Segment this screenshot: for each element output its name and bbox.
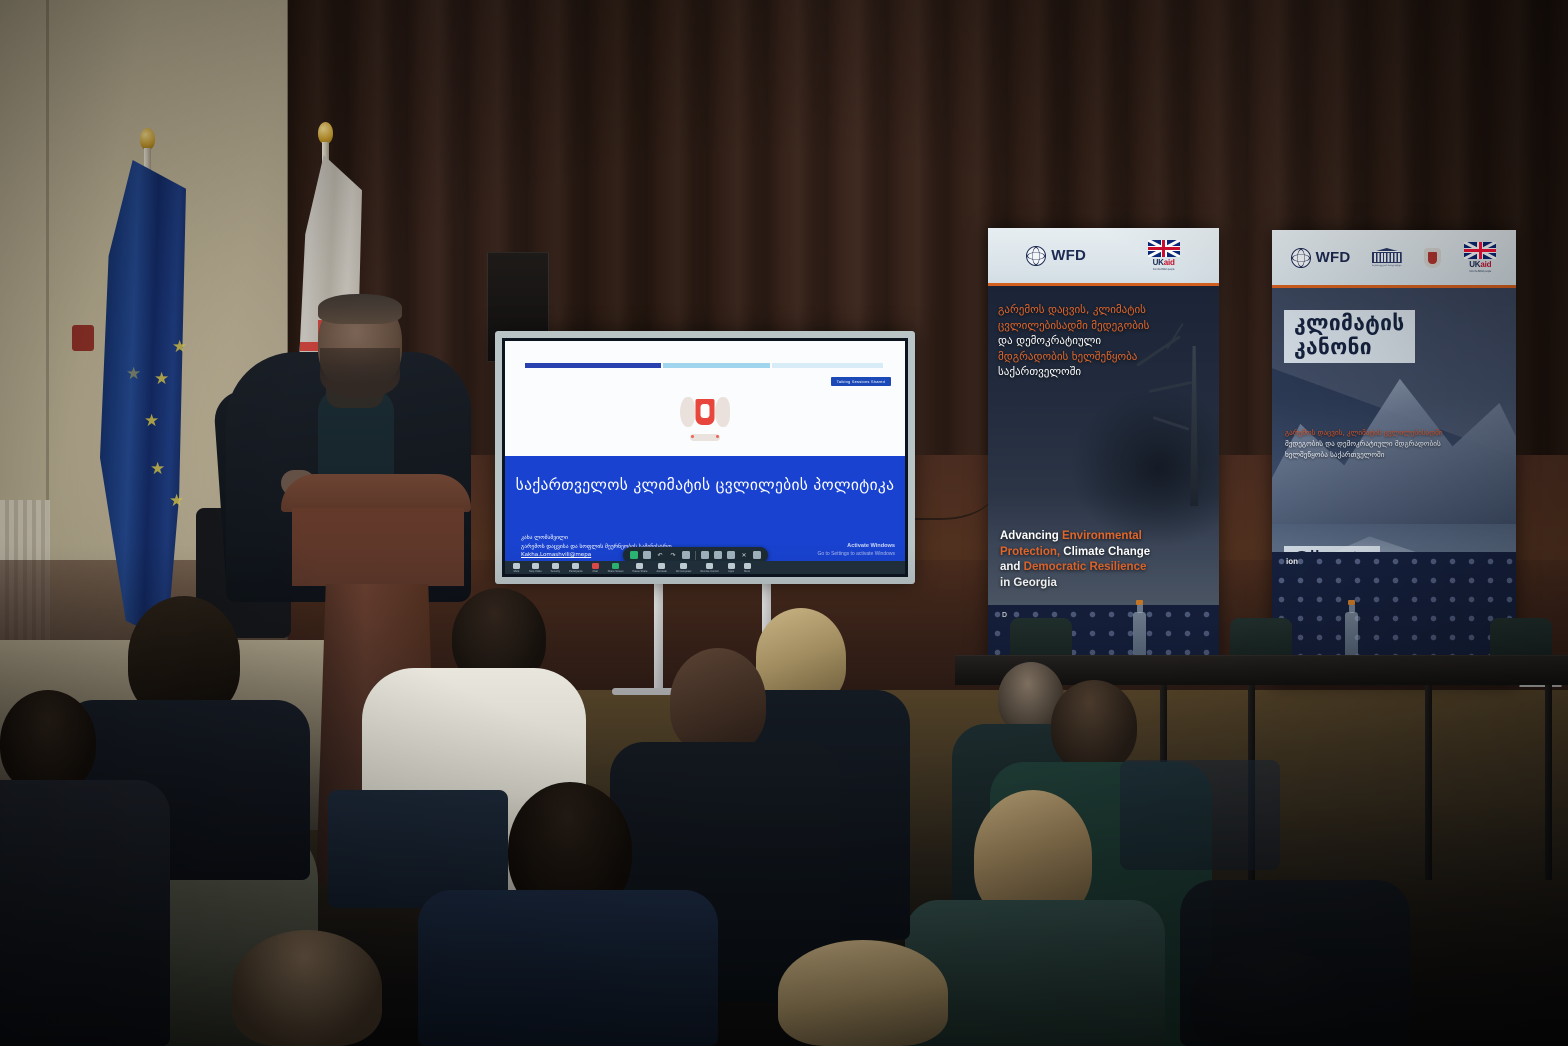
union-jack-icon bbox=[1464, 242, 1496, 259]
watermark-title: Activate Windows bbox=[817, 542, 895, 550]
eu-star: ★ bbox=[150, 460, 165, 477]
coa-rider bbox=[701, 404, 710, 418]
security-label: Security bbox=[551, 570, 560, 573]
pen-icon bbox=[658, 563, 665, 569]
chat-icon bbox=[592, 563, 599, 569]
union-jack-icon bbox=[1148, 240, 1180, 257]
fire-alarm-icon bbox=[72, 325, 94, 351]
annotate-label: Annotate bbox=[656, 570, 666, 573]
banner2-headline-ka-box: კლიმატის კანონი bbox=[1284, 310, 1415, 363]
bottle-cap bbox=[1136, 600, 1143, 605]
eu-star: ★ bbox=[126, 365, 141, 382]
save-icon[interactable] bbox=[714, 551, 722, 559]
tv-stand-left-leg bbox=[654, 584, 663, 692]
mute-button[interactable]: Mute bbox=[513, 563, 520, 573]
ukaid-logo: UKaid from the British people bbox=[1147, 240, 1181, 271]
uj-cross-horizontal-red bbox=[1148, 247, 1180, 250]
banner1-en-hl-1: Environmental bbox=[1062, 530, 1142, 542]
mute-label: Mute bbox=[514, 570, 520, 573]
all-composer-label: All Composer bbox=[676, 570, 692, 573]
watermark-sub: Go to Settings to activate Windows bbox=[817, 551, 895, 557]
remote-icon bbox=[706, 563, 713, 569]
banner1-en-line-4: in Georgia bbox=[1000, 577, 1057, 589]
conference-room-photo: ★ ★ ★ ★ ★ ★ Talking Sessions Shared bbox=[0, 0, 1568, 1046]
slide-bar-2 bbox=[663, 363, 770, 368]
eu-star: ★ bbox=[172, 338, 187, 355]
coa-dot-right bbox=[716, 435, 719, 438]
wfd-logo: WFD bbox=[1291, 248, 1351, 268]
banner2-headline-ka-line2: კანონი bbox=[1294, 336, 1405, 360]
globe-icon bbox=[1026, 246, 1046, 266]
apps-icon bbox=[728, 563, 735, 569]
banner1-en-line-2b: Climate Change bbox=[1060, 546, 1150, 558]
chat-button[interactable]: Chat bbox=[592, 563, 599, 573]
activate-windows-watermark: Activate Windows Go to Settings to activ… bbox=[817, 542, 895, 558]
undo-icon[interactable]: ↶ bbox=[656, 551, 664, 559]
microphone-icon bbox=[513, 563, 520, 569]
rollup-banner-climate-law: WFD საქართველოს პარლამენტი UKaid f bbox=[1272, 230, 1516, 685]
zoom-sharing-badge[interactable]: Talking Sessions Shared bbox=[831, 377, 891, 386]
banner1-title-line-2: ცვლილებისადმი მედეგობის bbox=[998, 319, 1149, 332]
pause-share-button[interactable]: Pause Share bbox=[632, 563, 647, 573]
georgia-emblem-shield bbox=[1428, 252, 1437, 264]
share-screen-label: Share Screen bbox=[608, 570, 624, 573]
more-label: More bbox=[744, 570, 750, 573]
toolbar-divider bbox=[695, 551, 696, 560]
all-composer-button[interactable]: All Composer bbox=[676, 563, 692, 573]
parliament-building-icon bbox=[1372, 248, 1402, 263]
participants-button[interactable]: Participants bbox=[569, 563, 583, 573]
coa-dot-left bbox=[691, 435, 694, 438]
georgia-coat-of-arms-icon bbox=[681, 393, 729, 443]
banner2-artwork: კლიმატის კანონი გარემოს დაცვის, კლიმატის… bbox=[1272, 288, 1516, 682]
parliament-of-georgia-logo: საქართველოს პარლამენტი bbox=[1372, 248, 1402, 267]
ukaid-uk: UK bbox=[1153, 258, 1164, 267]
banner1-footer-word: D bbox=[1002, 612, 1007, 619]
pause-icon bbox=[636, 563, 643, 569]
annotate-button[interactable]: Annotate bbox=[656, 563, 666, 573]
presentation-display: Talking Sessions Shared საქართველოს კლიმ… bbox=[495, 331, 915, 584]
banner2-footer-word: ion bbox=[1286, 557, 1298, 566]
ukaid-uk: UK bbox=[1469, 260, 1480, 269]
banner1-en-hl-3: Democratic Resilience bbox=[1024, 561, 1147, 573]
slide-top-bars bbox=[525, 363, 883, 368]
remote-control-label: Remote Control bbox=[700, 570, 718, 573]
audience-head bbox=[232, 930, 382, 1046]
banner1-title-georgian: გარემოს დაცვის, კლიმატის ცვლილებისადმი მ… bbox=[998, 302, 1209, 380]
apps-button[interactable]: Apps bbox=[728, 563, 735, 573]
slide-canvas: Talking Sessions Shared საქართველოს კლიმ… bbox=[505, 341, 905, 574]
table-leg bbox=[1545, 685, 1552, 880]
banner2-sub-ka-1: გარემოს დაცვის, კლიმატის ცვლილებისადმი bbox=[1285, 428, 1443, 437]
audience-head bbox=[0, 690, 96, 794]
grid-icon bbox=[680, 563, 687, 569]
eu-star: ★ bbox=[169, 492, 184, 509]
uj-cross-horizontal-red bbox=[1464, 249, 1496, 252]
display-bezel: Talking Sessions Shared საქართველოს კლიმ… bbox=[502, 338, 908, 577]
eu-star: ★ bbox=[144, 412, 159, 429]
chat-label: Chat bbox=[592, 570, 597, 573]
ukaid-tagline: from the British people bbox=[1469, 270, 1491, 273]
presenter-email[interactable]: Kakha.Lomashvili@mepa bbox=[521, 551, 591, 560]
ukaid-wordmark: UKaid bbox=[1153, 258, 1175, 267]
banner2-sub-georgian: გარემოს დაცვის, კლიმატის ცვლილებისადმი მ… bbox=[1285, 428, 1506, 460]
ellipsis-icon bbox=[744, 563, 751, 569]
ukaid-wordmark: UKaid bbox=[1469, 260, 1491, 269]
spotlight-icon[interactable] bbox=[682, 551, 690, 559]
banner1-title-english: Advancing Environmental Protection, Clim… bbox=[1000, 529, 1209, 591]
banner1-artwork: გარემოს დაცვის, კლიმატის ცვლილებისადმი მ… bbox=[988, 286, 1219, 665]
stop-video-label: Stop Video bbox=[529, 570, 542, 573]
slide-title: საქართველოს კლიმატის ცვლილების პოლიტიკა bbox=[505, 476, 905, 494]
parliament-columns bbox=[1374, 253, 1400, 262]
security-button[interactable]: Security bbox=[551, 563, 560, 573]
slide-bar-3 bbox=[772, 363, 883, 368]
remote-control-button[interactable]: Remote Control bbox=[700, 563, 718, 573]
audience-body bbox=[1180, 880, 1410, 1046]
share-screen-icon bbox=[612, 563, 619, 569]
parliament-caption: საქართველოს პარლამენტი bbox=[1372, 264, 1401, 267]
audience-body bbox=[0, 780, 170, 1046]
podium-body bbox=[292, 508, 464, 586]
presenter-name: კახა ლომაშვილი bbox=[521, 534, 672, 543]
audience-head-blonde bbox=[778, 940, 948, 1046]
banner1-en-hl-2: Protection, bbox=[1000, 546, 1060, 558]
new-window-icon[interactable] bbox=[701, 551, 709, 559]
redo-icon[interactable]: ↷ bbox=[669, 551, 677, 559]
ukaid-aid: aid bbox=[1480, 260, 1491, 269]
seat-back bbox=[1120, 760, 1280, 870]
audience-head bbox=[1051, 680, 1137, 772]
wfd-wordmark: WFD bbox=[1316, 249, 1351, 266]
banner1-title-line-3: და დემოკრატიული bbox=[998, 334, 1101, 347]
banner1-title-line-4: მდგრადობის ხელშეწყობა bbox=[998, 350, 1137, 363]
stop-video-button[interactable]: Stop Video bbox=[529, 563, 542, 573]
ukaid-logo: UKaid from the British people bbox=[1463, 242, 1497, 273]
slide-bar-1 bbox=[525, 363, 661, 368]
people-icon bbox=[572, 563, 579, 569]
table-leg bbox=[1425, 685, 1432, 880]
banner1-logo-strip: WFD UKaid from the British people bbox=[988, 228, 1219, 286]
coa-lion-right bbox=[715, 397, 730, 427]
banner2-headline-ka-line1: კლიმატის bbox=[1294, 312, 1405, 336]
coa-lion-left bbox=[680, 397, 695, 427]
banner1-en-line-3a: and bbox=[1000, 561, 1024, 573]
audience-head bbox=[670, 648, 766, 754]
ukaid-aid: aid bbox=[1164, 258, 1175, 267]
settings-icon[interactable] bbox=[727, 551, 735, 559]
rollup-banner-environment: WFD UKaid from the British people bbox=[988, 228, 1219, 668]
ukaid-tagline: from the British people bbox=[1153, 268, 1175, 271]
speaker-hair bbox=[318, 294, 402, 324]
banner1-title-line-1: გარემოს დაცვის, კლიმატის bbox=[998, 303, 1146, 316]
wfd-wordmark: WFD bbox=[1051, 247, 1086, 264]
more-button[interactable]: More bbox=[744, 563, 751, 573]
banner1-en-line-1a: Advancing bbox=[1000, 530, 1062, 542]
speaker-beard bbox=[320, 348, 400, 398]
close-icon[interactable]: ✕ bbox=[740, 551, 748, 559]
podium-top bbox=[281, 474, 471, 512]
shield-icon bbox=[552, 563, 559, 569]
eu-flag-finial bbox=[140, 128, 155, 150]
georgia-emblem-icon bbox=[1423, 247, 1442, 269]
audience-body bbox=[418, 890, 718, 1046]
bottle-cap bbox=[1348, 600, 1355, 605]
georgia-flag-finial bbox=[318, 122, 333, 144]
eu-star: ★ bbox=[154, 370, 169, 387]
zoom-meeting-controls[interactable]: Mute Stop Video Security Participants bbox=[505, 561, 905, 574]
share-screen-icon[interactable] bbox=[630, 551, 638, 559]
banner2-sub-ka-2: მედეგობის და დემოკრატიული მდგრადობის bbox=[1285, 439, 1441, 448]
banner2-logo-strip: WFD საქართველოს პარლამენტი UKaid f bbox=[1272, 230, 1516, 288]
camera-icon bbox=[532, 563, 539, 569]
pause-share-label: Pause Share bbox=[632, 570, 647, 573]
wfd-logo: WFD bbox=[1026, 246, 1086, 266]
globe-icon bbox=[1291, 248, 1311, 268]
apps-label: Apps bbox=[728, 570, 734, 573]
share-screen-button[interactable]: Share Screen bbox=[608, 563, 624, 573]
participants-label: Participants bbox=[569, 570, 583, 573]
banner2-sub-ka-3: ხელშეწყობა საქართველოში bbox=[1285, 450, 1384, 459]
more-icon[interactable] bbox=[753, 551, 761, 559]
stop-share-icon[interactable] bbox=[643, 551, 651, 559]
banner1-title-line-5: საქართველოში bbox=[998, 365, 1081, 378]
